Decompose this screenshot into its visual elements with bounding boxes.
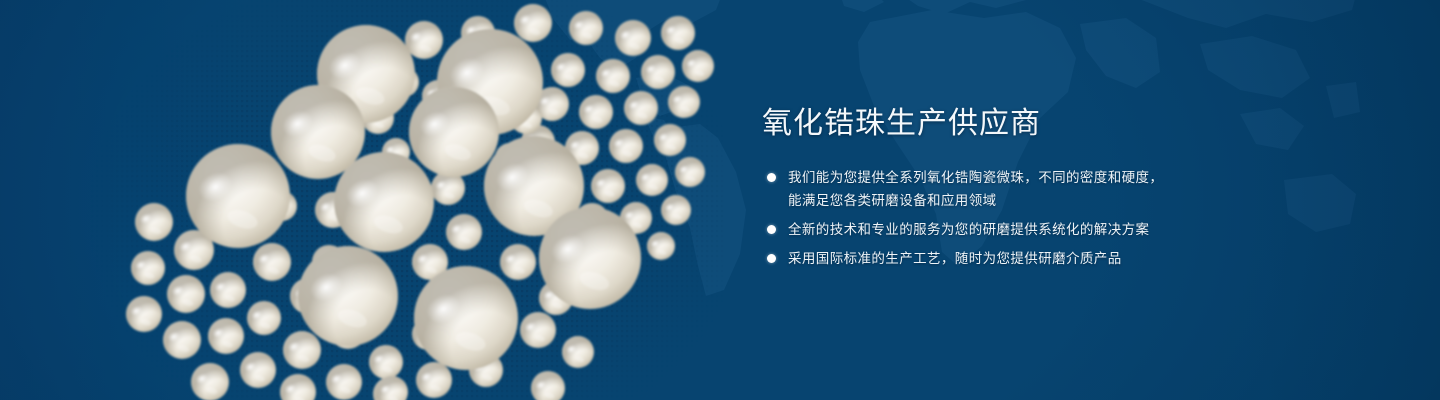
bullet-dot-icon xyxy=(767,254,776,263)
list-item-line: 全新的技术和专业的服务为您的研磨提供系统化的解决方案 xyxy=(788,218,1232,241)
page-title: 氧化锆珠生产供应商 xyxy=(762,104,1232,144)
hero-banner: 氧化锆珠生产供应商 我们能为您提供全系列氧化锆陶瓷微珠，不同的密度和硬度， 能满… xyxy=(0,0,1440,400)
banner-copy: 氧化锆珠生产供应商 我们能为您提供全系列氧化锆陶瓷微珠，不同的密度和硬度， 能满… xyxy=(762,104,1232,276)
list-item-line: 能满足您各类研磨设备和应用领域 xyxy=(788,189,1232,212)
zirconia-beads-photo xyxy=(86,0,726,400)
list-item: 全新的技术和专业的服务为您的研磨提供系统化的解决方案 xyxy=(762,218,1232,241)
bullet-dot-icon xyxy=(767,225,776,234)
list-item: 采用国际标准的生产工艺，随时为您提供研磨介质产品 xyxy=(762,247,1232,270)
list-item: 我们能为您提供全系列氧化锆陶瓷微珠，不同的密度和硬度， 能满足您各类研磨设备和应… xyxy=(762,166,1232,212)
list-item-line: 我们能为您提供全系列氧化锆陶瓷微珠，不同的密度和硬度， xyxy=(788,166,1232,189)
list-item-line: 采用国际标准的生产工艺，随时为您提供研磨介质产品 xyxy=(788,247,1232,270)
feature-list: 我们能为您提供全系列氧化锆陶瓷微珠，不同的密度和硬度， 能满足您各类研磨设备和应… xyxy=(762,166,1232,270)
bullet-dot-icon xyxy=(767,173,776,182)
